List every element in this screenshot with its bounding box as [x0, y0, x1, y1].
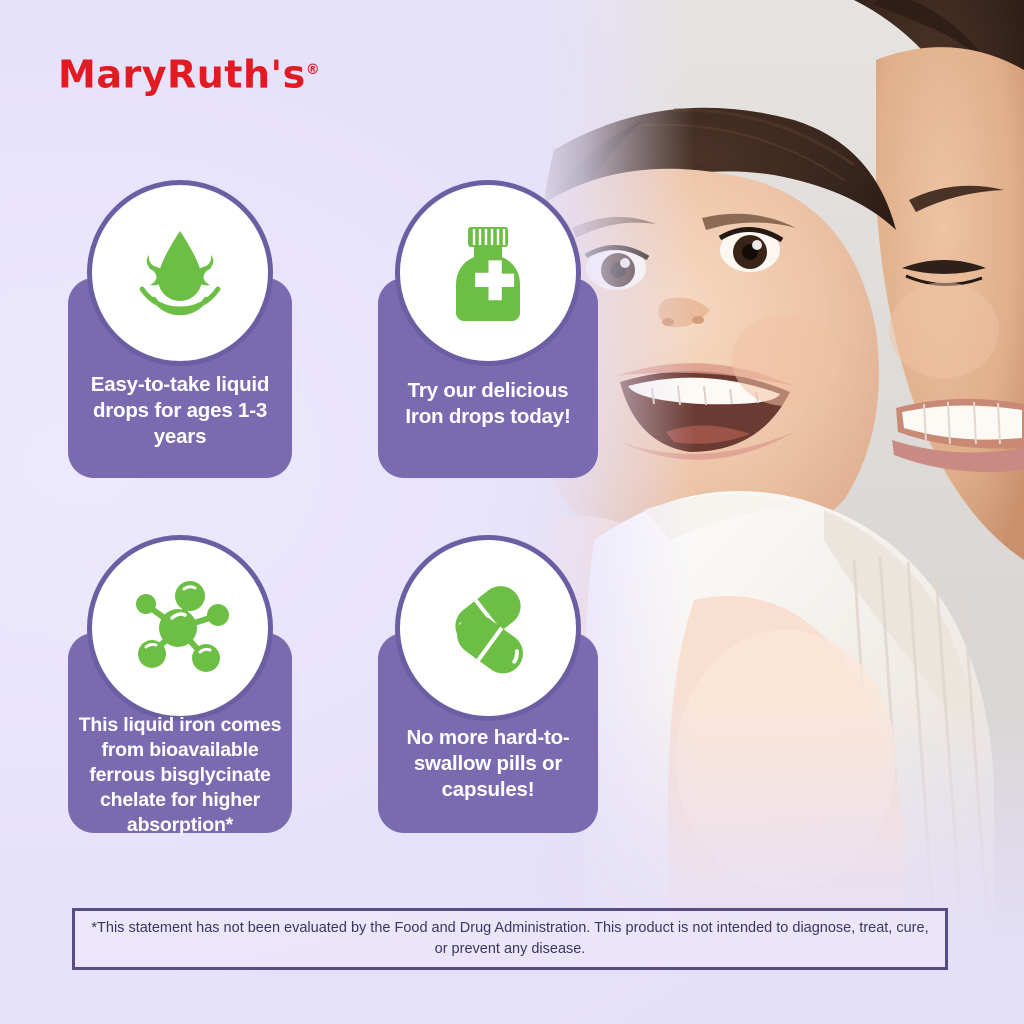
icon-circle: [87, 180, 273, 366]
water-drop-splash-icon: [120, 213, 240, 333]
feature-card-no-pills[interactable]: No more hard-to-swallow pills or capsule…: [378, 535, 598, 833]
infographic-canvas: MaryRuth's® Easy-to-take liquid drops fo…: [0, 0, 1024, 1024]
disclaimer-box: *This statement has not been evaluated b…: [72, 908, 948, 970]
feature-card-iron-drops[interactable]: Try our delicious Iron drops today!: [378, 180, 598, 478]
molecule-icon: [120, 568, 240, 688]
registered-trademark-symbol: ®: [306, 62, 321, 78]
brand-name-part1: Mary: [58, 53, 167, 97]
mother-and-baby-photo: [524, 0, 1024, 960]
brand-logo-text: MaryRuth's®: [58, 44, 358, 101]
card-label: No more hard-to-swallow pills or capsule…: [386, 725, 590, 804]
brand-name-part2: Ruth's: [167, 53, 306, 97]
medicine-bottle-icon: [428, 213, 548, 333]
icon-circle: [395, 180, 581, 366]
brand-logo[interactable]: MaryRuth's®: [58, 44, 358, 100]
card-label: This liquid iron comes from bioavailable…: [76, 713, 284, 838]
capsules-icon: [428, 568, 548, 688]
feature-card-easy-to-take[interactable]: Easy-to-take liquid drops for ages 1-3 y…: [68, 180, 292, 478]
card-label: Easy-to-take liquid drops for ages 1-3 y…: [76, 372, 284, 451]
icon-circle: [395, 535, 581, 721]
card-label: Try our delicious Iron drops today!: [386, 378, 590, 430]
feature-card-bioavailable-iron[interactable]: This liquid iron comes from bioavailable…: [68, 535, 292, 833]
disclaimer-text: *This statement has not been evaluated b…: [75, 918, 945, 960]
icon-circle: [87, 535, 273, 721]
